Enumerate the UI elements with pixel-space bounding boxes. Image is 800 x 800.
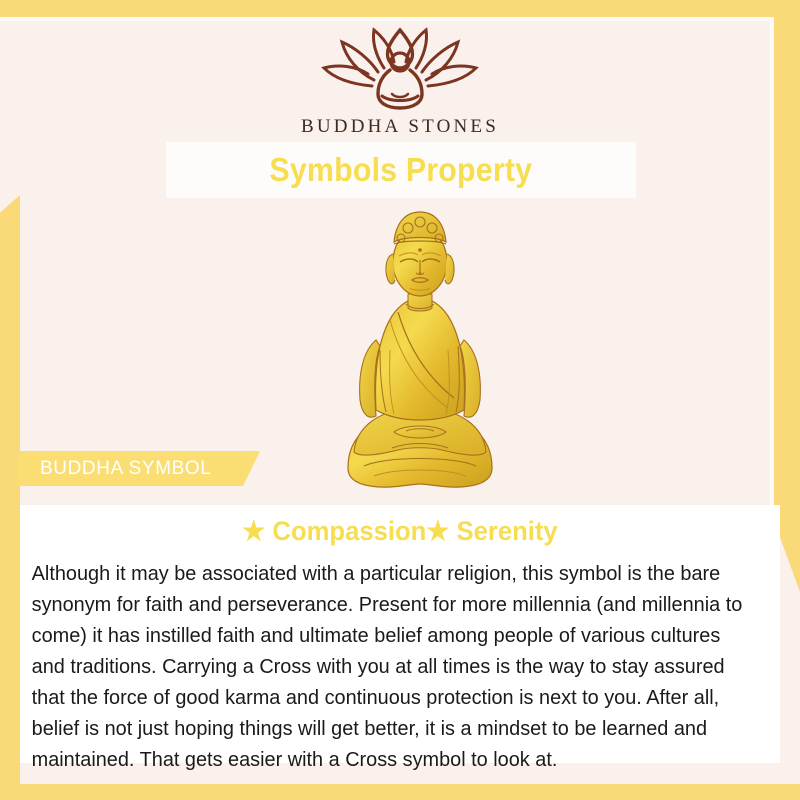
content-subheading: ★ Compassion★ Serenity <box>39 516 761 547</box>
decorative-top-border <box>0 0 800 17</box>
section-ribbon-tag: BUDDHA SYMBOL <box>18 451 260 486</box>
content-paragraph: Although it may be associated with a par… <box>20 558 757 775</box>
lotus-meditation-figure-icon <box>310 24 490 110</box>
brand-header: BUDDHA STONES <box>0 24 800 138</box>
decorative-bottom-border <box>0 784 800 800</box>
seated-buddha-statue-icon <box>330 200 510 500</box>
buddha-statue-image <box>330 200 510 500</box>
decorative-top-hairline <box>0 17 778 21</box>
decorative-left-border <box>0 195 20 784</box>
ribbon-label: BUDDHA SYMBOL <box>40 458 211 480</box>
content-panel: ★ Compassion★ Serenity Although it may b… <box>20 505 780 763</box>
brand-wordmark: BUDDHA STONES <box>0 116 800 138</box>
page-title: Symbols Property <box>270 151 533 189</box>
title-banner: Symbols Property <box>166 142 636 198</box>
poster-root: BUDDHA STONES Symbols Property <box>0 0 800 800</box>
